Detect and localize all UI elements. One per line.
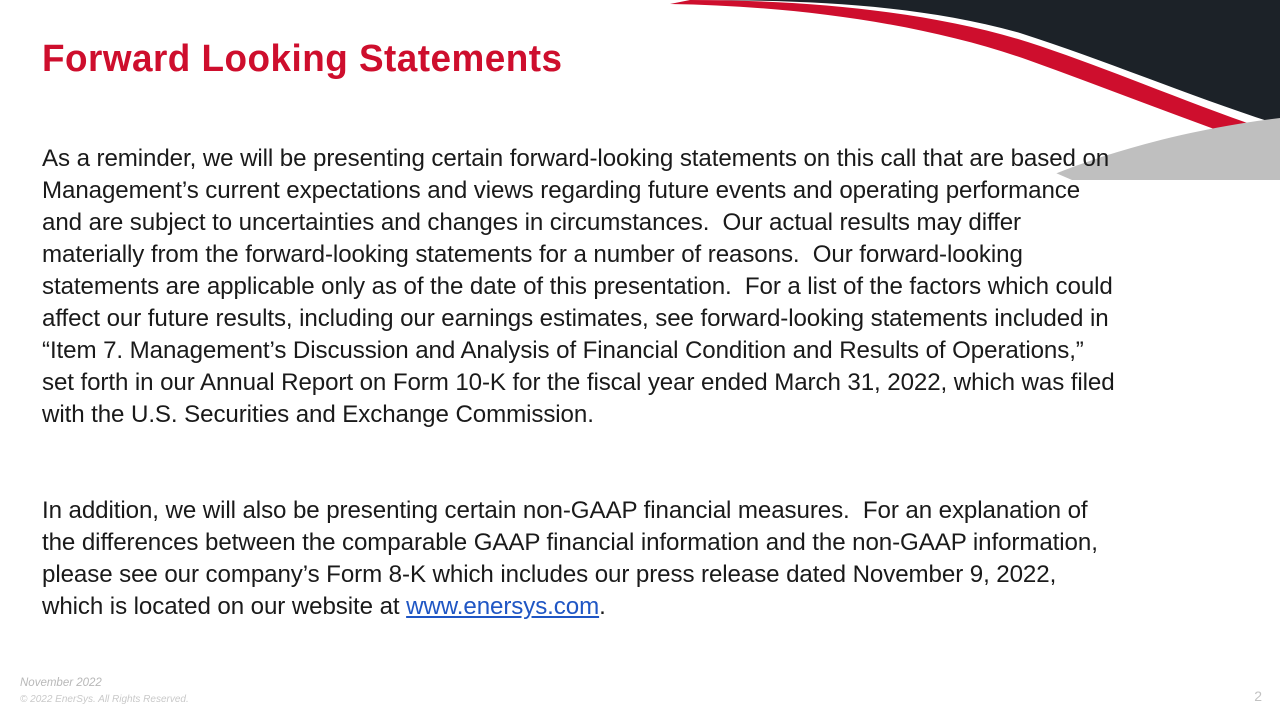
- red-swoosh: [670, 0, 1280, 152]
- enersys-website-link[interactable]: www.enersys.com: [406, 593, 599, 620]
- dark-swoosh: [678, 0, 1280, 125]
- paragraph-line: statements are applicable only as of the…: [42, 271, 1224, 303]
- paragraph-spacer: [42, 431, 1242, 495]
- link-lead-text: which is located on our website at: [42, 593, 406, 620]
- paragraph-line: materially from the forward-looking stat…: [42, 239, 1224, 271]
- link-trail-text: .: [599, 593, 606, 620]
- footer-copyright: © 2022 EnerSys. All Rights Reserved.: [20, 694, 189, 705]
- slide-forward-looking-statements: Forward Looking Statements As a reminder…: [0, 0, 1280, 720]
- paragraph-forward-looking: As a reminder, we will be presenting cer…: [42, 143, 1224, 431]
- paragraph-line: the differences between the comparable G…: [42, 527, 1224, 559]
- paragraph-non-gaap: In addition, we will also be presenting …: [42, 495, 1224, 623]
- page-number: 2: [1254, 688, 1262, 704]
- paragraph-line: affect our future results, including our…: [42, 303, 1224, 335]
- paragraph-line: set forth in our Annual Report on Form 1…: [42, 367, 1224, 399]
- paragraph-line: with the U.S. Securities and Exchange Co…: [42, 399, 1224, 431]
- footer-date: November 2022: [20, 677, 102, 689]
- paragraph-line-with-link: which is located on our website at www.e…: [42, 591, 1224, 623]
- slide-body: As a reminder, we will be presenting cer…: [42, 143, 1242, 623]
- paragraph-line: Management’s current expectations and vi…: [42, 175, 1224, 207]
- paragraph-line: and are subject to uncertainties and cha…: [42, 207, 1224, 239]
- paragraph-line: In addition, we will also be presenting …: [42, 495, 1224, 527]
- paragraph-line: please see our company’s Form 8-K which …: [42, 559, 1224, 591]
- paragraph-line: “Item 7. Management’s Discussion and Ana…: [42, 335, 1224, 367]
- page-title: Forward Looking Statements: [42, 36, 563, 82]
- paragraph-line: As a reminder, we will be presenting cer…: [42, 143, 1224, 175]
